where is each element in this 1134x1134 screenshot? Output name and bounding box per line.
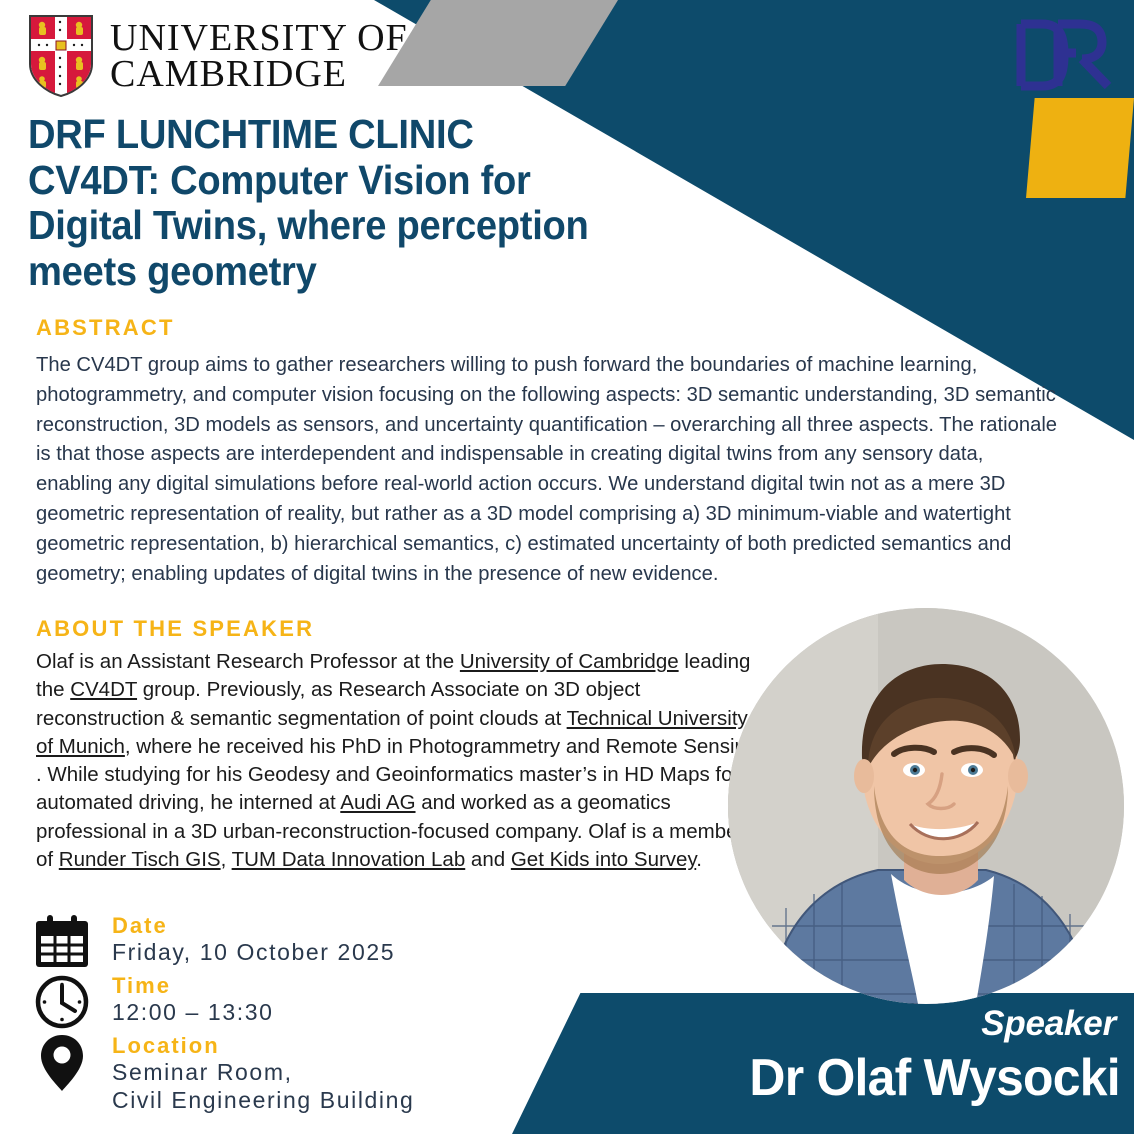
bio-text-10: , xyxy=(221,848,232,871)
page-title: DRF LUNCHTIME CLINIC CV4DT: Computer Vis… xyxy=(28,112,735,294)
cambridge-coat-of-arms-icon xyxy=(28,14,94,98)
bio-text-12: and xyxy=(465,848,511,871)
bio-link-9[interactable]: Runder Tisch GIS xyxy=(59,848,221,871)
about-speaker-heading: ABOUT THE SPEAKER xyxy=(36,616,314,642)
cambridge-wordmark-line2: CAMBRIDGE xyxy=(110,56,408,92)
cambridge-wordmark: UNIVERSITY OF CAMBRIDGE xyxy=(110,20,408,93)
bio-link-13[interactable]: Get Kids into Survey xyxy=(511,848,696,871)
speaker-role-label: Speaker xyxy=(981,1004,1116,1044)
time-value: 12:00 – 13:30 xyxy=(112,998,273,1026)
event-poster: UNIVERSITY OF CAMBRIDGE DRF LUNCHTIME CL… xyxy=(0,0,1134,1134)
location-pin-icon xyxy=(30,1032,94,1094)
clock-icon xyxy=(30,972,94,1030)
detail-row-date: Date Friday, 10 October 2025 xyxy=(30,912,500,970)
detail-text-time: Time 12:00 – 13:30 xyxy=(112,972,273,1026)
detail-text-date: Date Friday, 10 October 2025 xyxy=(112,912,395,966)
bio-link-11[interactable]: TUM Data Innovation Lab xyxy=(232,848,466,871)
speaker-name: Dr Olaf Wysocki xyxy=(750,1048,1120,1108)
location-label: Location xyxy=(112,1034,414,1058)
about-speaker-body-text: Olaf is an Assistant Research Professor … xyxy=(36,648,766,874)
date-label: Date xyxy=(112,914,395,938)
date-value: Friday, 10 October 2025 xyxy=(112,938,395,966)
detail-row-location: Location Seminar Room, Civil Engineering… xyxy=(30,1032,500,1114)
time-label: Time xyxy=(112,974,273,998)
drf-logo-icon xyxy=(1012,16,1116,94)
bio-text-14: . xyxy=(696,848,702,871)
detail-row-time: Time 12:00 – 13:30 xyxy=(30,972,500,1030)
abstract-heading: ABSTRACT xyxy=(36,315,175,341)
location-value: Seminar Room, Civil Engineering Building xyxy=(112,1058,414,1114)
calendar-icon xyxy=(30,912,94,970)
bio-text-0: Olaf is an Assistant Research Professor … xyxy=(36,650,460,673)
bio-link-3[interactable]: CV4DT xyxy=(70,678,137,701)
bio-link-1[interactable]: University of Cambridge xyxy=(460,650,679,673)
detail-text-location: Location Seminar Room, Civil Engineering… xyxy=(112,1032,414,1114)
cambridge-logo-lockup: UNIVERSITY OF CAMBRIDGE xyxy=(28,14,408,98)
title-line-1: DRF LUNCHTIME CLINIC xyxy=(28,112,735,158)
yellow-accent-shape xyxy=(1026,98,1134,198)
bio-link-7[interactable]: Audi AG xyxy=(340,791,415,814)
abstract-body-text: The CV4DT group aims to gather researche… xyxy=(36,350,1064,589)
speaker-headshot-photo xyxy=(728,608,1124,1004)
grey-accent-shape xyxy=(378,0,618,86)
title-line-3: Digital Twins, where perception xyxy=(28,203,735,249)
title-line-2: CV4DT: Computer Vision for xyxy=(28,158,735,204)
event-details: Date Friday, 10 October 2025 Time 12:00 … xyxy=(30,912,500,1114)
title-line-4: meets geometry xyxy=(28,249,735,295)
